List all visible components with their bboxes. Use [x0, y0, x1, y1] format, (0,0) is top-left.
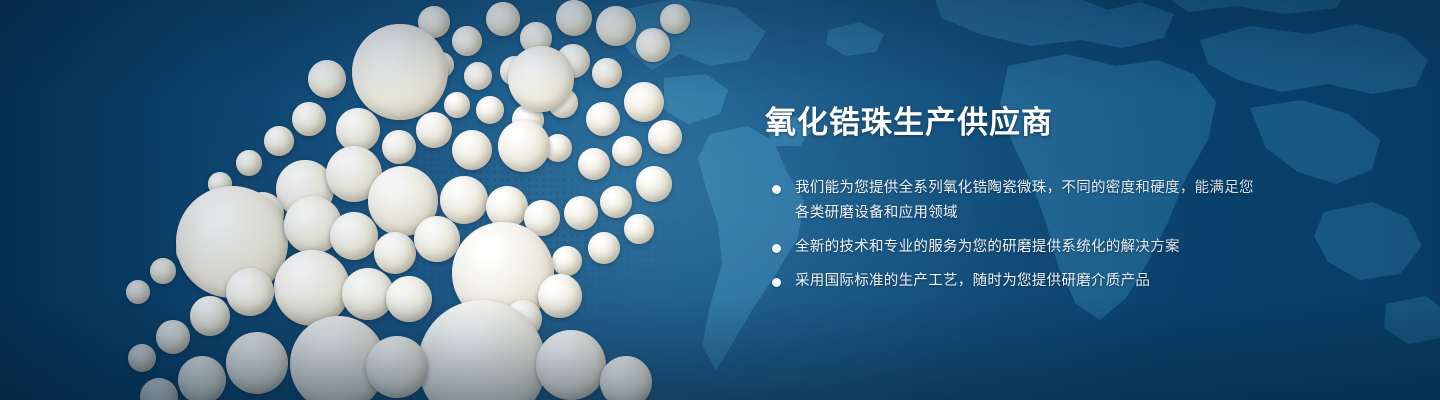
- hero-banner: 氧化锆珠生产供应商 我们能为您提供全系列氧化锆陶瓷微珠，不同的密度和硬度，能满足…: [0, 0, 1440, 400]
- vignette-overlay: [0, 0, 1440, 400]
